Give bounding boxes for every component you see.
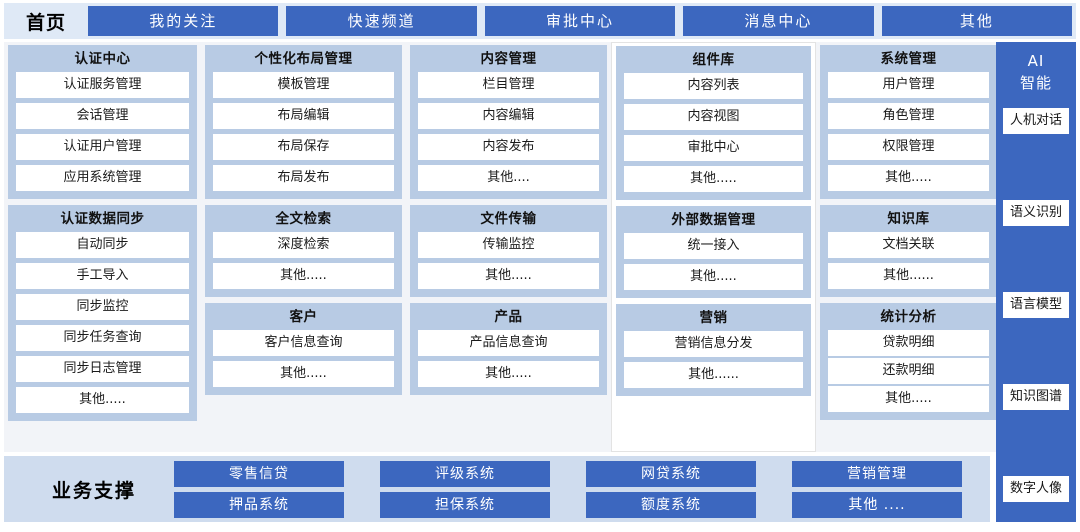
ai-item-language-model[interactable]: 语言模型: [1003, 292, 1069, 318]
menu-item[interactable]: 其他.....: [213, 263, 394, 289]
system-button-guarantee-system[interactable]: 担保系统: [380, 492, 550, 518]
ai-item-semantic-recognition[interactable]: 语义识别: [1003, 200, 1069, 226]
menu-item[interactable]: 产品信息查询: [418, 330, 599, 356]
group-title: 组件库: [624, 50, 803, 73]
ai-item-digital-avatar[interactable]: 数字人像: [1003, 476, 1069, 502]
menu-item[interactable]: 模板管理: [213, 72, 394, 98]
menu-item[interactable]: 应用系统管理: [16, 165, 189, 191]
ai-sidebar-title: AI 智能: [1003, 50, 1069, 108]
module-column-1: 认证中心 认证服务管理 会话管理 认证用户管理 应用系统管理 认证数据同步 自动…: [4, 42, 201, 452]
menu-item[interactable]: 内容视图: [624, 104, 803, 130]
menu-item[interactable]: 文档关联: [828, 232, 989, 258]
menu-item[interactable]: 其他.....: [624, 166, 803, 192]
menu-item[interactable]: 角色管理: [828, 103, 989, 129]
module-group-auth-center: 认证中心 认证服务管理 会话管理 认证用户管理 应用系统管理: [8, 45, 197, 199]
group-title: 产品: [418, 307, 599, 330]
menu-item[interactable]: 内容编辑: [418, 103, 599, 129]
nav-tab-quick-channel[interactable]: 快速频道: [286, 6, 476, 36]
nav-tab-label: 其他: [960, 12, 994, 30]
menu-item[interactable]: 同步日志管理: [16, 356, 189, 382]
module-group-file-transfer: 文件传输 传输监控 其他.....: [410, 205, 607, 297]
module-group-component-library: 组件库 内容列表 内容视图 审批中心 其他.....: [616, 46, 811, 200]
group-title: 认证数据同步: [16, 209, 189, 232]
module-group-personalized-layout: 个性化布局管理 模板管理 布局编辑 布局保存 布局发布: [205, 45, 402, 199]
ai-item-knowledge-graph[interactable]: 知识图谱: [1003, 384, 1069, 410]
system-button-collateral-system[interactable]: 押品系统: [174, 492, 344, 518]
group-title: 系统管理: [828, 49, 989, 72]
menu-item[interactable]: 营销信息分发: [624, 331, 803, 357]
group-title: 客户: [213, 307, 394, 330]
menu-item[interactable]: 其他.....: [828, 165, 989, 191]
nav-tab-label: 审批中心: [546, 12, 614, 30]
menu-item[interactable]: 其他.....: [16, 387, 189, 413]
nav-tab-home[interactable]: 首页: [4, 8, 88, 35]
group-title: 外部数据管理: [624, 210, 803, 233]
module-column-3: 内容管理 栏目管理 内容编辑 内容发布 其他.... 文件传输 传输监控 其他.…: [406, 42, 611, 452]
module-group-full-text-search: 全文检索 深度检索 其他.....: [205, 205, 402, 297]
system-button-other[interactable]: 其他 ....: [792, 492, 962, 518]
module-group-knowledge-base: 知识库 文档关联 其他......: [820, 205, 997, 297]
group-title: 文件传输: [418, 209, 599, 232]
menu-item[interactable]: 栏目管理: [418, 72, 599, 98]
system-button-rating-system[interactable]: 评级系统: [380, 461, 550, 487]
nav-tab-label: 消息中心: [744, 12, 812, 30]
menu-item[interactable]: 还款明细: [828, 358, 989, 384]
menu-item[interactable]: 其他.....: [213, 361, 394, 387]
group-title: 营销: [624, 308, 803, 331]
nav-tab-home-label: 首页: [26, 12, 66, 34]
nav-tab-my-focus[interactable]: 我的关注: [88, 6, 278, 36]
menu-item[interactable]: 自动同步: [16, 232, 189, 258]
menu-item[interactable]: 同步监控: [16, 294, 189, 320]
group-title: 全文检索: [213, 209, 394, 232]
system-button-online-loan-system[interactable]: 网贷系统: [586, 461, 756, 487]
menu-item[interactable]: 其他....: [418, 165, 599, 191]
module-group-customer: 客户 客户信息查询 其他.....: [205, 303, 402, 395]
menu-item[interactable]: 布局编辑: [213, 103, 394, 129]
system-button-credit-limit-system[interactable]: 额度系统: [586, 492, 756, 518]
menu-item[interactable]: 布局保存: [213, 134, 394, 160]
menu-item[interactable]: 认证服务管理: [16, 72, 189, 98]
menu-item[interactable]: 内容列表: [624, 73, 803, 99]
module-column-4-selected: 组件库 内容列表 内容视图 审批中心 其他..... 外部数据管理 统一接入 其…: [611, 42, 816, 452]
module-group-system-management: 系统管理 用户管理 角色管理 权限管理 其他.....: [820, 45, 997, 199]
module-group-product: 产品 产品信息查询 其他.....: [410, 303, 607, 395]
nav-tab-list: 我的关注 快速频道 审批中心 消息中心 其他: [88, 6, 1076, 36]
system-button-marketing-management[interactable]: 营销管理: [792, 461, 962, 487]
menu-item[interactable]: 深度检索: [213, 232, 394, 258]
module-group-marketing: 营销 营销信息分发 其他......: [616, 304, 811, 396]
menu-item[interactable]: 手工导入: [16, 263, 189, 289]
portal-root: 首页 我的关注 快速频道 审批中心 消息中心 其他 认证中心 认证服务管理 会话…: [0, 0, 1080, 532]
business-support-bar: 业务支撑 零售信贷 评级系统 网贷系统 营销管理 押品系统 担保系统 额度系统 …: [4, 456, 990, 522]
ai-item-human-machine-dialogue[interactable]: 人机对话: [1003, 108, 1069, 134]
menu-item[interactable]: 审批中心: [624, 135, 803, 161]
menu-item[interactable]: 布局发布: [213, 165, 394, 191]
module-board: 认证中心 认证服务管理 会话管理 认证用户管理 应用系统管理 认证数据同步 自动…: [4, 42, 1076, 452]
nav-tab-approval-center[interactable]: 审批中心: [485, 6, 675, 36]
menu-item[interactable]: 其他.....: [418, 263, 599, 289]
menu-item[interactable]: 其他.....: [624, 264, 803, 290]
module-group-statistical-analysis: 统计分析 贷款明细 还款明细 其他.....: [820, 303, 997, 420]
module-column-5: 系统管理 用户管理 角色管理 权限管理 其他..... 知识库 文档关联 其他.…: [816, 42, 1001, 452]
module-column-2: 个性化布局管理 模板管理 布局编辑 布局保存 布局发布 全文检索 深度检索 其他…: [201, 42, 406, 452]
module-group-external-data-management: 外部数据管理 统一接入 其他.....: [616, 206, 811, 298]
system-button-retail-credit[interactable]: 零售信贷: [174, 461, 344, 487]
menu-item[interactable]: 统一接入: [624, 233, 803, 259]
module-group-auth-data-sync: 认证数据同步 自动同步 手工导入 同步监控 同步任务查询 同步日志管理 其他..…: [8, 205, 197, 421]
nav-tab-other[interactable]: 其他: [882, 6, 1072, 36]
business-system-grid: 零售信贷 评级系统 网贷系统 营销管理 押品系统 担保系统 额度系统 其他 ..…: [174, 461, 980, 518]
menu-item[interactable]: 其他......: [624, 362, 803, 388]
top-navigation-bar: 首页 我的关注 快速频道 审批中心 消息中心 其他: [4, 3, 1076, 39]
module-group-content-management: 内容管理 栏目管理 内容编辑 内容发布 其他....: [410, 45, 607, 199]
group-title: 知识库: [828, 209, 989, 232]
group-title: 内容管理: [418, 49, 599, 72]
nav-tab-message-center[interactable]: 消息中心: [683, 6, 873, 36]
menu-item[interactable]: 权限管理: [828, 134, 989, 160]
nav-tab-label: 快速频道: [348, 12, 416, 30]
menu-item[interactable]: 贷款明细: [828, 330, 989, 356]
menu-item[interactable]: 认证用户管理: [16, 134, 189, 160]
group-title: 认证中心: [16, 49, 189, 72]
ai-title-line-1: AI: [1003, 50, 1069, 72]
group-title: 个性化布局管理: [213, 49, 394, 72]
menu-item[interactable]: 其他.....: [828, 386, 989, 412]
ai-title-line-2: 智能: [1003, 72, 1069, 94]
menu-item[interactable]: 内容发布: [418, 134, 599, 160]
menu-item[interactable]: 用户管理: [828, 72, 989, 98]
nav-tab-label: 我的关注: [149, 12, 217, 30]
menu-item[interactable]: 其他......: [828, 263, 989, 289]
menu-item[interactable]: 其他.....: [418, 361, 599, 387]
menu-item[interactable]: 传输监控: [418, 232, 599, 258]
ai-sidebar: AI 智能 人机对话 语义识别 语言模型 知识图谱 数字人像: [996, 42, 1076, 522]
ai-sidebar-item-list: 人机对话 语义识别 语言模型 知识图谱 数字人像: [1003, 108, 1069, 514]
group-title: 统计分析: [828, 307, 989, 330]
menu-item[interactable]: 同步任务查询: [16, 325, 189, 351]
menu-item[interactable]: 客户信息查询: [213, 330, 394, 356]
menu-item[interactable]: 会话管理: [16, 103, 189, 129]
business-support-label: 业务支撑: [14, 476, 174, 503]
